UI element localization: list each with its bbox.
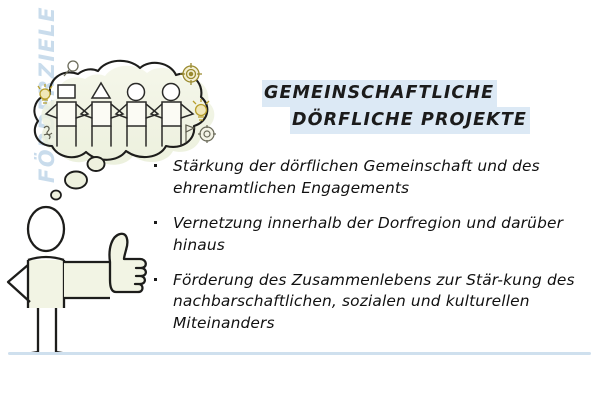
bullet-item: Vernetzung innerhalb der Dorfregion und …: [152, 213, 584, 257]
person-thumbs-up: [8, 207, 146, 352]
heading-row-2: DÖRFLICHE PROJEKTE: [290, 107, 592, 134]
heading-line-2: DÖRFLICHE PROJEKTE: [290, 107, 530, 134]
bullet-dot-icon: [154, 164, 157, 167]
bottom-divider: [8, 352, 591, 355]
bullet-text: Förderung des Zusammenlebens zur Stär-ku…: [173, 271, 575, 333]
bullet-dot-icon: [154, 221, 157, 224]
heading-row-1: GEMEINSCHAFTLICHE: [262, 80, 592, 107]
bullet-text: Vernetzung innerhalb der Dorfregion und …: [173, 214, 563, 254]
slide-canvas: FÖRDERZIELE: [0, 0, 600, 400]
heading-block: GEMEINSCHAFTLICHE DÖRFLICHE PROJEKTE: [262, 80, 592, 134]
heading-line-1: GEMEINSCHAFTLICHE: [262, 80, 497, 107]
bullet-item: Stärkung der dörflichen Gemeinschaft und…: [152, 156, 584, 200]
bullet-text: Stärkung der dörflichen Gemeinschaft und…: [173, 157, 540, 197]
bullet-item: Förderung des Zusammenlebens zur Stär-ku…: [152, 270, 584, 336]
thought-bubble-trail: [51, 157, 105, 200]
bullet-dot-icon: [154, 278, 157, 281]
bullet-list: Stärkung der dörflichen Gemeinschaft und…: [152, 156, 584, 335]
